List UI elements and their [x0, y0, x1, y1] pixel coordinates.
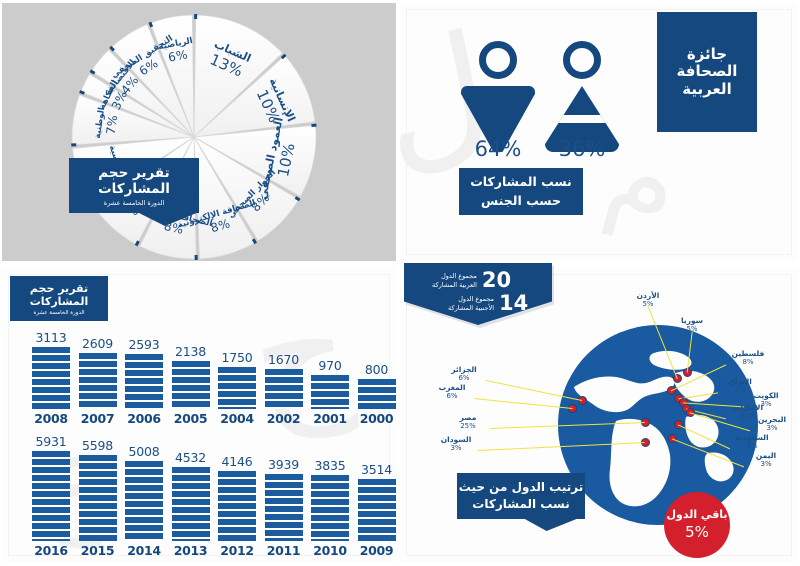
panel-participation-by-category: الشباب13%الإنسانية10%العمود الصحفي10%الح…	[2, 3, 396, 261]
bar-column: 17502004	[218, 350, 256, 426]
map-country-percent: 3%	[746, 424, 798, 432]
map-country-name: الإمارات	[722, 403, 774, 412]
map-country-label: اليمن3%	[740, 451, 792, 468]
bar-column: 31132008	[32, 330, 70, 426]
map-country-name: السعودية	[726, 433, 778, 442]
pie-caption-subtitle: الدورة الخامسة عشرة	[104, 199, 164, 207]
map-country-label: فلسطين8%	[722, 349, 774, 366]
bar-rect	[172, 467, 210, 541]
bar-rect	[358, 479, 396, 541]
bar-rect	[125, 461, 163, 541]
bar-rect	[79, 353, 117, 409]
map-country-percent: 25%	[442, 422, 494, 430]
bar-year-label: 2006	[127, 411, 161, 426]
bar-value: 5931	[36, 434, 67, 449]
map-country-name: فلسطين	[722, 349, 774, 358]
bar-rect	[32, 347, 70, 409]
bar-column: 8002000	[358, 362, 396, 426]
bar-value: 970	[318, 358, 341, 373]
map-country-name: الأردن	[622, 291, 674, 300]
bar-value: 3939	[268, 457, 299, 472]
bar-column: 39392011	[265, 457, 303, 558]
rest-of-countries-value: 5%	[685, 523, 709, 541]
map-country-label: السعودية9%	[726, 433, 778, 450]
map-country-percent: 3%	[430, 444, 482, 452]
bar-column: 26092007	[79, 336, 117, 426]
bar-chart-row-2: 3514200938352010393920114146201245322013…	[32, 434, 396, 558]
bar-column: 45322013	[172, 450, 210, 558]
map-country-percent: 6%	[438, 374, 490, 382]
gender-caption-box: نسب المشاركات حسب الجنس	[459, 168, 583, 215]
foreign-countries-label: مجموع الدول الأجنبية المشاركة	[448, 295, 494, 311]
bar-column: 35142009	[358, 462, 396, 558]
bar-value: 5008	[129, 444, 160, 459]
foreign-countries-count: 14 مجموع الدول الأجنبية المشاركة	[448, 293, 528, 314]
bar-value: 4146	[222, 454, 253, 469]
bar-year-label: 2009	[360, 543, 394, 558]
bar-value: 5598	[82, 438, 113, 453]
map-country-percent: 8%	[722, 358, 774, 366]
bar-year-label: 2012	[220, 543, 254, 558]
bar-value: 4532	[175, 450, 206, 465]
gender-caption-line1: نسب المشاركات	[470, 173, 572, 191]
bar-year-label: 2004	[220, 411, 254, 426]
bar-year-label: 2015	[81, 543, 115, 558]
bar-column: 25932006	[125, 337, 163, 426]
bar-year-label: 2005	[174, 411, 208, 426]
bar-year-label: 2013	[174, 543, 208, 558]
bar-rect	[358, 379, 396, 409]
female-percent: 36%	[532, 137, 632, 161]
bar-value: 3835	[315, 458, 346, 473]
map-country-label: البحرين3%	[746, 415, 798, 432]
bar-column: 38352010	[311, 458, 349, 558]
map-caption-line2: نسب المشاركات	[472, 496, 569, 513]
bar-column: 21382005	[172, 344, 210, 426]
map-country-name: الجزائر	[438, 365, 490, 374]
bar-value: 2609	[82, 336, 113, 351]
bars-caption-box: تقرير حجم المشاركات الدورة الخامسة عشرة	[10, 276, 108, 321]
bar-column: 59312016	[32, 434, 70, 558]
bar-year-label: 2000	[360, 411, 394, 426]
bar-year-label: 2001	[313, 411, 347, 426]
pie-slice-tick	[150, 22, 152, 27]
bar-column: 9702001	[311, 358, 349, 426]
pie-caption-box: تقرير حجم المشاركات الدورة الخامسة عشرة	[69, 158, 199, 213]
bar-year-label: 2010	[313, 543, 347, 558]
bars-caption-title: تقرير حجم المشاركات	[10, 282, 108, 308]
map-country-label: السودان3%	[430, 435, 482, 452]
bar-year-label: 2011	[267, 543, 301, 558]
bar-value: 2138	[175, 344, 206, 359]
bar-value: 3514	[361, 462, 392, 477]
pie-slice-tick	[136, 241, 138, 245]
map-caption-box: ترتيب الدول من حيث نسب المشاركات	[457, 473, 585, 519]
bar-column: 50082014	[125, 444, 163, 558]
bar-year-label: 2008	[34, 411, 68, 426]
bar-rect	[218, 367, 256, 409]
map-country-name: البحرين	[746, 415, 798, 424]
bar-column: 16702002	[265, 352, 303, 426]
bar-rect	[265, 369, 303, 409]
arab-countries-count: 20 مجموع الدول العربية المشاركة	[432, 270, 511, 291]
bar-value: 2593	[129, 337, 160, 352]
bar-chart-row-1: 8002000970200116702002175020042138200525…	[32, 330, 396, 426]
bar-rect	[218, 471, 256, 541]
map-country-label: الجزائر6%	[438, 365, 490, 382]
bar-year-label: 2007	[81, 411, 115, 426]
gender-caption-line2: حسب الجنس	[481, 192, 561, 210]
bar-value: 1670	[268, 352, 299, 367]
bars-caption-subtitle: الدورة الخامسة عشرة	[33, 310, 84, 316]
rest-of-countries-label: باقي الدول	[666, 509, 727, 522]
bar-year-label: 2014	[127, 543, 161, 558]
bar-rect	[32, 451, 70, 541]
map-caption-line1: ترتيب الدول من حيث	[459, 479, 584, 496]
bar-value: 3113	[36, 330, 67, 345]
map-country-name: اليمن	[740, 451, 792, 460]
map-country-percent: 6%	[426, 392, 478, 400]
rest-of-countries-badge: باقي الدول 5%	[664, 492, 730, 558]
map-country-name: مصر	[442, 413, 494, 422]
map-country-percent: 9%	[726, 442, 778, 450]
map-country-name: المغرب	[426, 383, 478, 392]
bar-rect	[125, 354, 163, 409]
infographic-root: الشباب13%الإنسانية10%العمود الصحفي10%الح…	[0, 0, 800, 566]
bar-year-label: 2002	[267, 411, 301, 426]
map-country-label: مصر25%	[442, 413, 494, 430]
bar-rect	[172, 361, 210, 409]
map-country-name: العراق	[714, 377, 766, 386]
bar-rect	[311, 375, 349, 409]
bar-column: 41462012	[218, 454, 256, 558]
map-country-percent: 3%	[740, 460, 792, 468]
map-country-name: السودان	[430, 435, 482, 444]
bar-column: 55982015	[79, 438, 117, 558]
bar-rect	[79, 455, 117, 541]
award-logo: جائزة الصحافة العربية	[657, 12, 757, 132]
map-country-name: الكويت	[740, 391, 792, 400]
bar-rect	[311, 475, 349, 541]
bar-value: 1750	[222, 350, 253, 365]
map-country-label: سوريا5%	[666, 316, 718, 333]
bar-rect	[265, 474, 303, 541]
pie-caption-title: تقرير حجم المشاركات	[69, 165, 199, 197]
arab-countries-label: مجموع الدول العربية المشاركة	[432, 272, 477, 288]
arab-countries-number: 20	[482, 270, 511, 291]
map-country-name: سوريا	[666, 316, 718, 325]
bar-year-label: 2016	[34, 543, 68, 558]
pie-slice-tick	[80, 92, 85, 94]
bar-value: 800	[365, 362, 388, 377]
map-country-label: المغرب6%	[426, 383, 478, 400]
award-logo-text: جائزة الصحافة العربية	[666, 31, 748, 113]
